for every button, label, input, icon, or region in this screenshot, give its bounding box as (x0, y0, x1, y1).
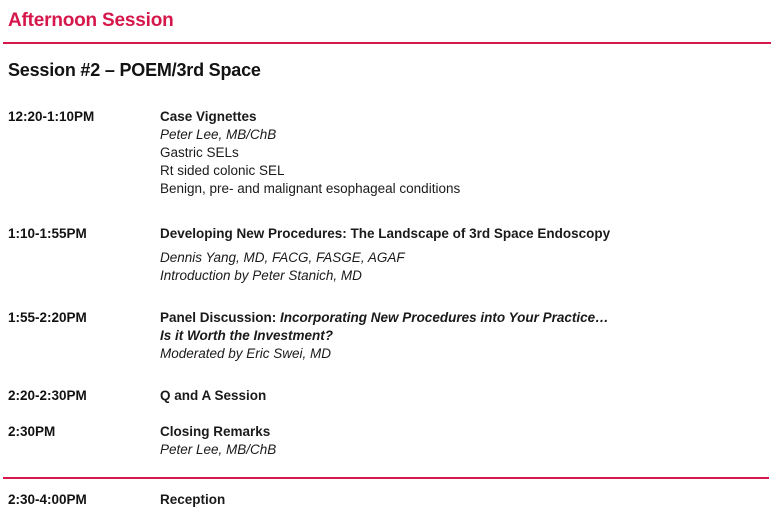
entry-topic: Benign, pre- and malignant esophageal co… (160, 180, 764, 198)
entry-speaker: Dennis Yang, MD, FACG, FASGE, AGAF (160, 249, 764, 267)
afternoon-session-heading: Afternoon Session (8, 10, 174, 32)
entry-title: Case Vignettes (160, 108, 764, 126)
entry-body: Q and A Session (160, 387, 774, 405)
entry-body: Panel Discussion: Incorporating New Proc… (160, 309, 774, 363)
schedule-entry-reception: 2:30-4:00PM Reception (0, 491, 774, 509)
schedule-entry-closing-remarks: 2:30PM Closing Remarks Peter Lee, MB/ChB (0, 423, 774, 459)
entry-body: Developing New Procedures: The Landscape… (160, 225, 774, 285)
entry-title: Q and A Session (160, 387, 764, 405)
entry-speaker: Peter Lee, MB/ChB (160, 441, 764, 459)
schedule-entry-developing-new-procedures: 1:10-1:55PM Developing New Procedures: T… (0, 225, 774, 285)
schedule-entry-panel-discussion: 1:55-2:20PM Panel Discussion: Incorporat… (0, 309, 774, 363)
entry-title: Closing Remarks (160, 423, 764, 441)
schedule-list: 12:20-1:10PM Case Vignettes Peter Lee, M… (0, 108, 774, 459)
entry-title-prefix: Panel Discussion: (160, 310, 276, 325)
entry-introduction: Introduction by Peter Stanich, MD (160, 267, 764, 285)
entry-title: Developing New Procedures: The Landscape… (160, 225, 764, 243)
entry-body: Case Vignettes Peter Lee, MB/ChB Gastric… (160, 108, 774, 198)
footer-divider (3, 477, 769, 479)
entry-title: Panel Discussion: Incorporating New Proc… (160, 309, 764, 327)
entry-time: 2:30-4:00PM (0, 491, 160, 509)
entry-body: Reception (160, 491, 774, 509)
page-title: Session #2 – POEM/3rd Space (8, 60, 261, 81)
entry-time: 12:20-1:10PM (0, 108, 160, 126)
header-divider-top (3, 42, 771, 44)
entry-time: 1:10-1:55PM (0, 225, 160, 243)
agenda-page: Afternoon Session Session #2 – POEM/3rd … (0, 0, 774, 515)
schedule-entry-case-vignettes: 12:20-1:10PM Case Vignettes Peter Lee, M… (0, 108, 774, 198)
entry-speaker: Peter Lee, MB/ChB (160, 126, 764, 144)
schedule-entry-q-and-a: 2:20-2:30PM Q and A Session (0, 387, 774, 405)
entry-topic: Rt sided colonic SEL (160, 162, 764, 180)
entry-moderator: Moderated by Eric Swei, MD (160, 345, 764, 363)
entry-time: 2:30PM (0, 423, 160, 441)
entry-title-emphasis: Incorporating New Procedures into Your P… (276, 310, 608, 325)
entry-body: Closing Remarks Peter Lee, MB/ChB (160, 423, 774, 459)
entry-time: 2:20-2:30PM (0, 387, 160, 405)
entry-title-line-2: Is it Worth the Investment? (160, 327, 764, 345)
entry-time: 1:55-2:20PM (0, 309, 160, 327)
entry-topic: Gastric SELs (160, 144, 764, 162)
entry-title: Reception (160, 491, 764, 509)
